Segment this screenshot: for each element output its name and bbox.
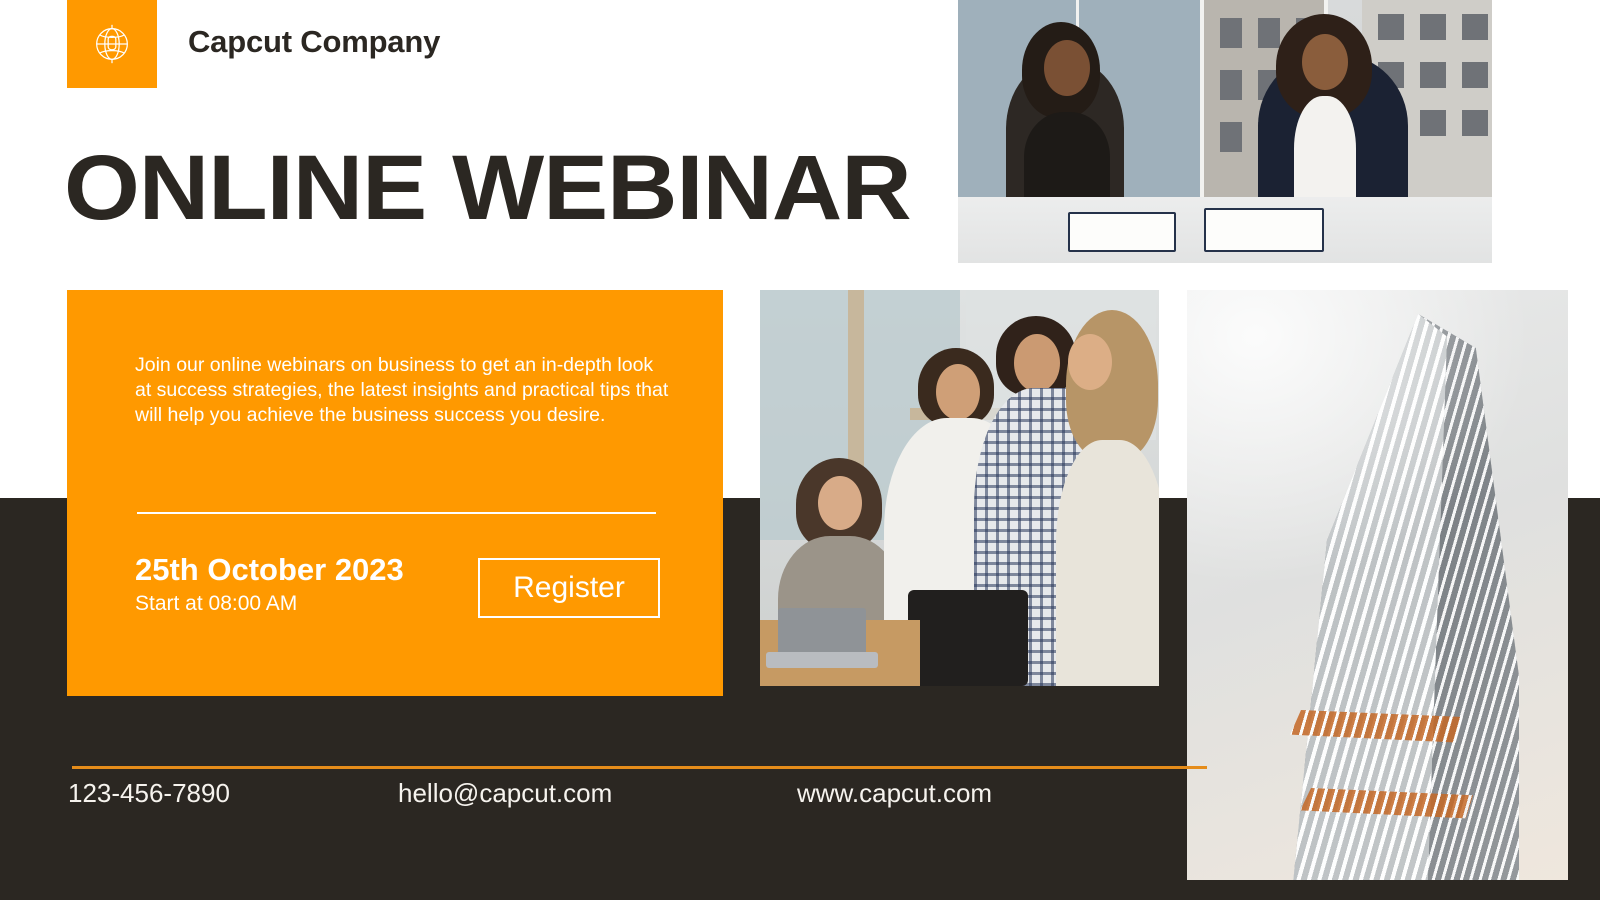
logo-badge <box>67 0 157 88</box>
page-title: ONLINE WEBINAR <box>64 142 911 234</box>
card-divider <box>137 512 656 514</box>
contact-website[interactable]: www.capcut.com <box>797 778 992 809</box>
skyscraper-photo <box>1187 290 1568 880</box>
webinar-poster: Capcut Company ONLINE WEBINAR <box>0 0 1600 900</box>
webinar-date: 25th October 2023 <box>135 552 404 588</box>
contact-phone[interactable]: 123-456-7890 <box>68 778 230 809</box>
team-photo <box>760 290 1159 686</box>
contact-email[interactable]: hello@capcut.com <box>398 778 612 809</box>
meeting-photo <box>958 0 1492 263</box>
company-name: Capcut Company <box>188 24 440 60</box>
webinar-description: Join our online webinars on business to … <box>135 353 669 428</box>
webinar-start-time: Start at 08:00 AM <box>135 592 297 616</box>
register-button[interactable]: Register <box>478 558 660 618</box>
globe-icon <box>89 21 135 67</box>
footer-divider <box>72 766 1207 769</box>
webinar-details-card: Join our online webinars on business to … <box>67 290 723 696</box>
